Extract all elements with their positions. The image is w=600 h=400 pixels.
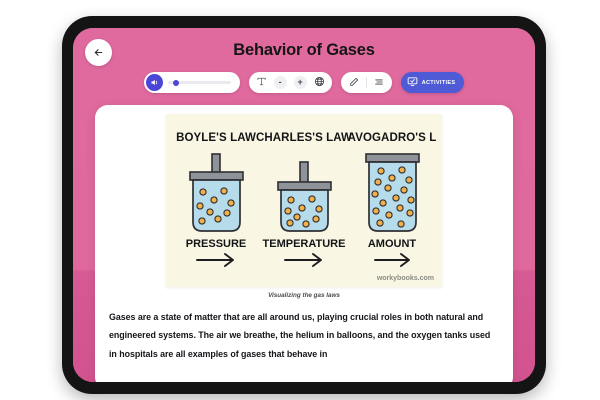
activities-button-label: ACTIVITIES xyxy=(422,80,456,86)
increase-text-size-button[interactable]: + xyxy=(294,76,307,89)
figure-column-boyles-law: BOYLE'S LAW xyxy=(176,132,256,266)
list-button[interactable] xyxy=(374,74,384,92)
column-variable-2: AMOUNT xyxy=(368,238,417,250)
arrow-2 xyxy=(375,254,409,266)
language-button[interactable] xyxy=(314,74,325,92)
pen-button[interactable] xyxy=(349,74,359,92)
column-heading-2: AVOGADRO'S L xyxy=(348,132,437,144)
page-title: Behavior of Gases xyxy=(73,41,535,60)
column-heading-0: BOYLE'S LAW xyxy=(176,132,256,144)
text-format-icon xyxy=(256,74,267,92)
arrow-1 xyxy=(285,254,321,266)
list-lines-icon xyxy=(374,74,384,92)
activities-button[interactable]: ACTIVITIES xyxy=(401,72,465,93)
figure-column-avogadros-law: AVOGADRO'S L xyxy=(348,132,437,266)
speaker-volume-icon xyxy=(150,74,159,92)
figure-wrapper: BOYLE'S LAW xyxy=(95,114,513,299)
arrow-0 xyxy=(197,254,233,266)
text-controls-group: - + xyxy=(249,72,332,93)
column-heading-1: CHARLES'S LAW xyxy=(256,132,352,144)
lesson-content-card: BOYLE'S LAW xyxy=(95,105,513,382)
pencil-edit-icon xyxy=(349,74,359,92)
column-variable-0: PRESSURE xyxy=(186,238,247,250)
decrease-text-size-button[interactable]: - xyxy=(274,76,287,89)
toolbar: - + xyxy=(73,72,535,93)
gas-laws-figure: BOYLE'S LAW xyxy=(166,114,442,287)
screenshot-root: Behavior of Gases xyxy=(0,0,600,400)
figure-column-charless-law: CHARLES'S LAW xyxy=(256,132,352,266)
annotation-tools-group xyxy=(341,72,392,93)
volume-slider[interactable] xyxy=(168,81,231,84)
figure-caption: Visualizing the gas laws xyxy=(268,292,340,299)
gas-laws-illustration: BOYLE'S LAW xyxy=(166,114,442,287)
monitor-check-icon xyxy=(407,74,418,92)
figure-watermark: workybooks.com xyxy=(376,275,434,282)
lesson-paragraph: Gases are a state of matter that are all… xyxy=(109,308,499,363)
tablet-screen: Behavior of Gases xyxy=(73,28,535,382)
app-header: Behavior of Gases xyxy=(73,28,535,106)
audio-control-group xyxy=(144,72,240,93)
text-format-button[interactable] xyxy=(256,74,267,92)
column-variable-1: TEMPERATURE xyxy=(263,238,346,250)
tablet-device-frame: Behavior of Gases xyxy=(62,16,546,394)
volume-slider-thumb[interactable] xyxy=(173,80,179,86)
speaker-button[interactable] xyxy=(146,74,163,91)
toolbar-divider xyxy=(366,77,367,88)
globe-icon xyxy=(314,74,325,92)
